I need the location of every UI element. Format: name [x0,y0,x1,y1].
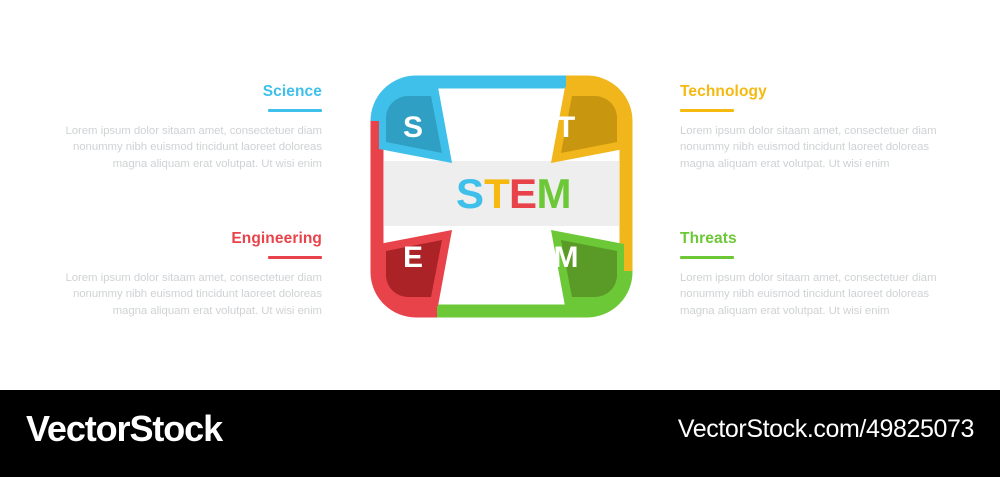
badge-t-letter: T [557,111,575,144]
block-title-engineering: Engineering [62,231,322,247]
stem-wordmark: S T E M [456,170,572,217]
badge-s: S [379,87,452,163]
block-body-science: Lorem ipsum dolor sitaam amet, consectet… [62,123,322,173]
title-rule-science [268,109,322,112]
stem-letter-m: M [537,170,572,217]
text-block-engineering: Engineering Lorem ipsum dolor sitaam ame… [62,231,322,319]
text-block-science: Science Lorem ipsum dolor sitaam amet, c… [62,84,322,172]
vectorstock-url: VectorStock.com/49825073 [678,417,974,442]
text-block-threats: Threats Lorem ipsum dolor sitaam amet, c… [680,231,940,319]
title-rule-engineering [268,256,322,259]
block-body-threats: Lorem ipsum dolor sitaam amet, consectet… [680,270,940,320]
block-body-engineering: Lorem ipsum dolor sitaam amet, consectet… [62,270,322,320]
vectorstock-watermark-bar: VectorStock VectorStock.com/49825073 [0,390,1000,477]
infographic-canvas: Science Lorem ipsum dolor sitaam amet, c… [0,0,1000,390]
stem-letter-e: E [509,170,537,217]
block-body-technology: Lorem ipsum dolor sitaam amet, consectet… [680,123,940,173]
block-title-science: Science [62,84,322,100]
stem-letter-s: S [456,170,484,217]
badge-m-letter: M [554,241,579,274]
vectorstock-logo: VectorStock [26,411,222,447]
title-rule-technology [680,109,734,112]
block-title-technology: Technology [680,84,940,100]
badge-e-letter: E [403,241,423,274]
stem-letter-t: T [484,170,510,217]
text-block-technology: Technology Lorem ipsum dolor sitaam amet… [680,84,940,172]
badge-s-letter: S [403,111,423,144]
stem-frame: S T E M S T E [370,75,633,318]
block-title-threats: Threats [680,231,940,247]
title-rule-threats [680,256,734,259]
